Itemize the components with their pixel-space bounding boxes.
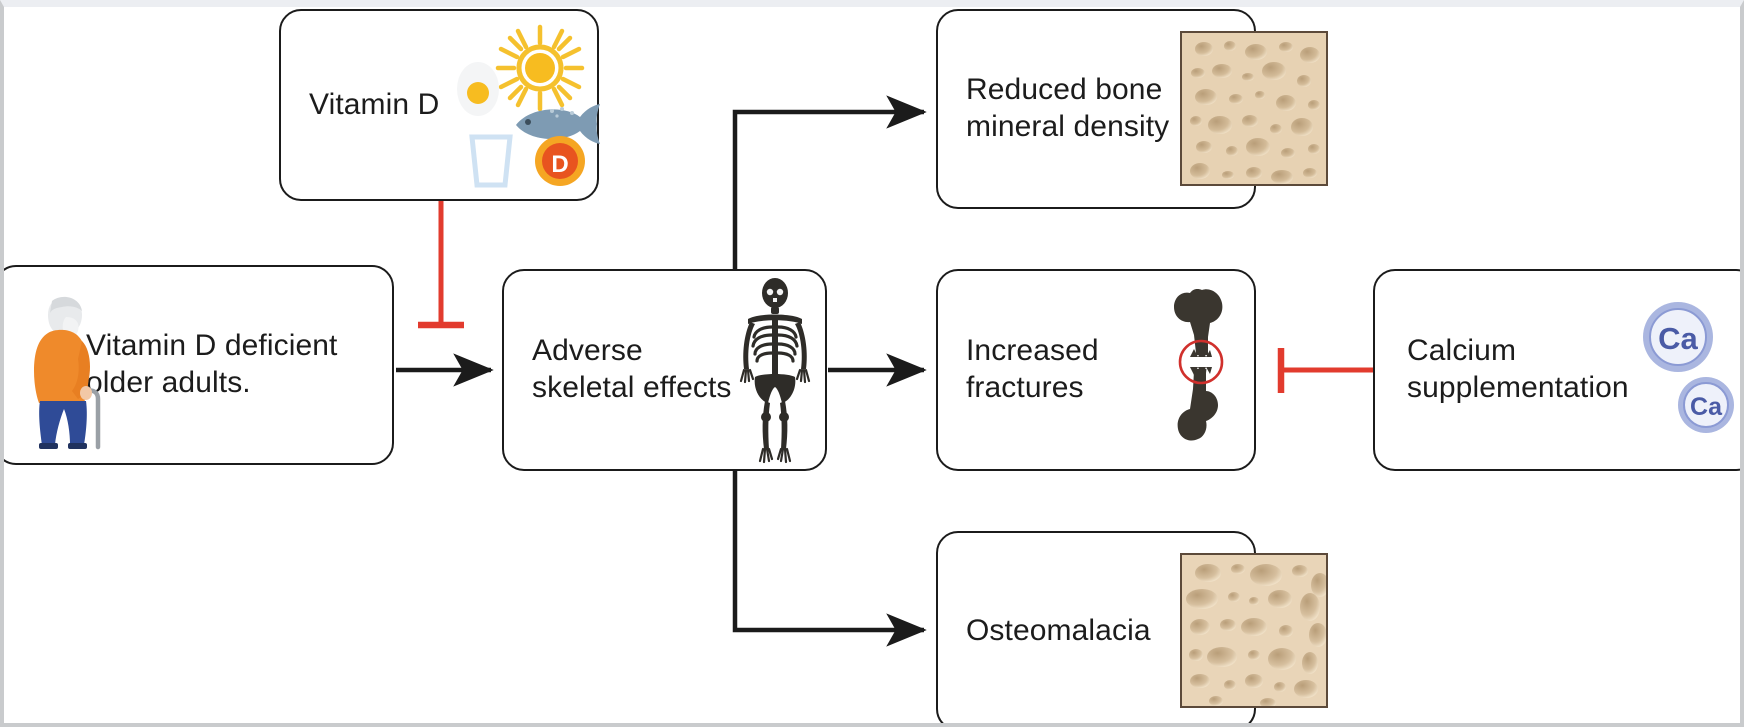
node-older-adults[interactable]: Vitamin D deficient older adults. — [0, 265, 394, 465]
connector-adverse-to-bmd — [735, 112, 924, 270]
node-osteomalacia-label: Osteomalacia — [966, 613, 1151, 650]
connector-calcium-inhibition — [1281, 348, 1373, 393]
node-vitamin-d-label: Vitamin D — [309, 87, 439, 124]
node-calcium-supplementation-label: Calcium supplementation — [1407, 333, 1629, 406]
node-reduced-bone-mineral-density-label: Reduced bone mineral density — [966, 72, 1169, 145]
node-increased-fractures-label: Increased fractures — [966, 333, 1099, 406]
node-calcium-supplementation[interactable]: Calcium supplementation — [1373, 269, 1744, 471]
node-increased-fractures[interactable]: Increased fractures — [936, 269, 1256, 471]
node-reduced-bone-mineral-density[interactable]: Reduced bone mineral density — [936, 9, 1256, 209]
connector-adverse-to-osteomalacia — [735, 470, 924, 630]
node-older-adults-label: Vitamin D deficient older adults. — [86, 328, 337, 401]
node-vitamin-d[interactable]: Vitamin D — [279, 9, 599, 201]
node-osteomalacia[interactable]: Osteomalacia — [936, 531, 1256, 727]
node-adverse-skeletal-effects[interactable]: Adverse skeletal effects — [502, 269, 827, 471]
diagram-layer: Vitamin D Vitamin D deficient older adul… — [4, 7, 1740, 723]
diagram-canvas: Vitamin D Vitamin D deficient older adul… — [0, 0, 1744, 727]
connector-vitamin-d-inhibition — [418, 201, 464, 325]
node-adverse-skeletal-effects-label: Adverse skeletal effects — [532, 333, 732, 406]
